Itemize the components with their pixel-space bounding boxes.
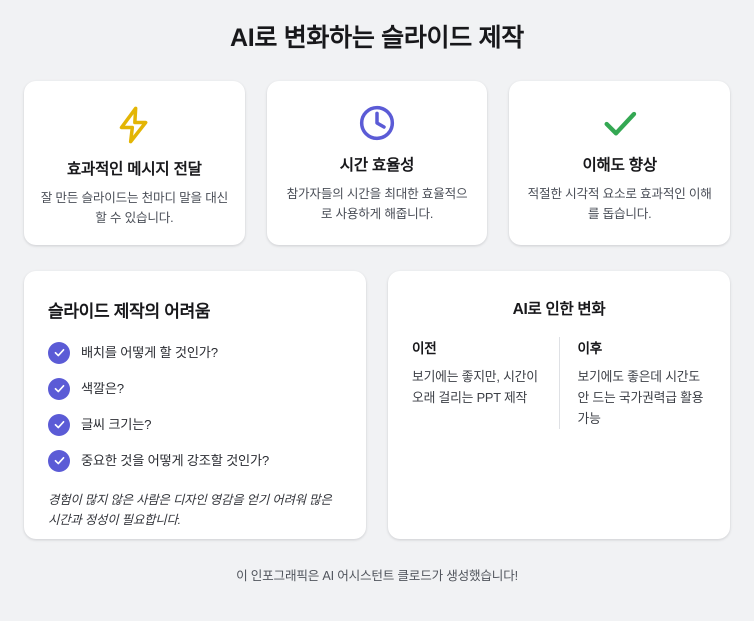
feature-title: 시간 효율성 [340,153,414,175]
feature-card-message: 효과적인 메시지 전달 잘 만든 슬라이드는 천마디 말을 대신할 수 있습니다… [24,81,245,245]
list-item: 중요한 것을 어떻게 강조할 것인가? [48,450,342,472]
feature-description: 적절한 시각적 요소로 효과적인 이해를 돕습니다. [525,184,714,225]
compare-column-before: 이전 보기에는 좋지만, 시간이 오래 걸리는 PPT 제작 [412,337,559,430]
feature-description: 참가자들의 시간을 최대한 효율적으로 사용하게 해줍니다. [283,184,472,225]
check-circle-icon [48,342,70,364]
infographic-page: AI로 변화하는 슬라이드 제작 효과적인 메시지 전달 잘 만든 슬라이드는 … [0,0,754,621]
page-title: AI로 변화하는 슬라이드 제작 [24,0,730,55]
challenges-list: 배치를 어떻게 할 것인가? 색깔은? [48,342,342,472]
list-item-label: 색깔은? [81,380,124,397]
feature-card-row: 효과적인 메시지 전달 잘 만든 슬라이드는 천마디 말을 대신할 수 있습니다… [24,81,730,245]
feature-title: 이해도 향상 [582,153,656,175]
challenges-note: 경험이 많지 않은 사람은 디자인 영감을 얻기 어려워 많은 시간과 정성이 … [48,490,342,532]
list-item-label: 중요한 것을 어떻게 강조할 것인가? [81,452,269,469]
challenges-panel: 슬라이드 제작의 어려움 배치를 어떻게 할 것인가? [24,271,366,539]
check-circle-icon [48,450,70,472]
lightning-bolt-icon [114,103,154,147]
list-item: 배치를 어떻게 할 것인가? [48,342,342,364]
before-after-compare: 이전 보기에는 좋지만, 시간이 오래 걸리는 PPT 제작 이후 보기에도 좋… [412,337,706,430]
feature-card-understanding: 이해도 향상 적절한 시각적 요소로 효과적인 이해를 돕습니다. [509,81,730,245]
panel-row: 슬라이드 제작의 어려움 배치를 어떻게 할 것인가? [24,271,730,539]
check-circle-icon [48,414,70,436]
check-circle-icon [48,378,70,400]
feature-card-time: 시간 효율성 참가자들의 시간을 최대한 효율적으로 사용하게 해줍니다. [267,81,488,245]
clock-icon [357,103,397,143]
before-text: 보기에는 좋지만, 시간이 오래 걸리는 PPT 제작 [412,366,541,408]
feature-description: 잘 만든 슬라이드는 천마디 말을 대신할 수 있습니다. [40,188,229,229]
compare-column-after: 이후 보기에도 좋은데 시간도 안 드는 국가권력급 활용 가능 [559,337,707,430]
list-item-label: 글씨 크기는? [81,416,151,433]
change-panel: AI로 인한 변화 이전 보기에는 좋지만, 시간이 오래 걸리는 PPT 제작… [388,271,730,539]
before-heading: 이전 [412,337,541,357]
list-item-label: 배치를 어떻게 할 것인가? [81,344,218,361]
feature-title: 효과적인 메시지 전달 [67,157,202,179]
footer-caption: 이 인포그래픽은 AI 어시스턴트 클로드가 생성했습니다! [24,565,730,584]
list-item: 글씨 크기는? [48,414,342,436]
change-title: AI로 인한 변화 [412,297,706,319]
list-item: 색깔은? [48,378,342,400]
after-text: 보기에도 좋은데 시간도 안 드는 국가권력급 활용 가능 [578,366,707,430]
challenges-title: 슬라이드 제작의 어려움 [48,297,342,322]
after-heading: 이후 [578,337,707,357]
check-icon [599,103,641,143]
